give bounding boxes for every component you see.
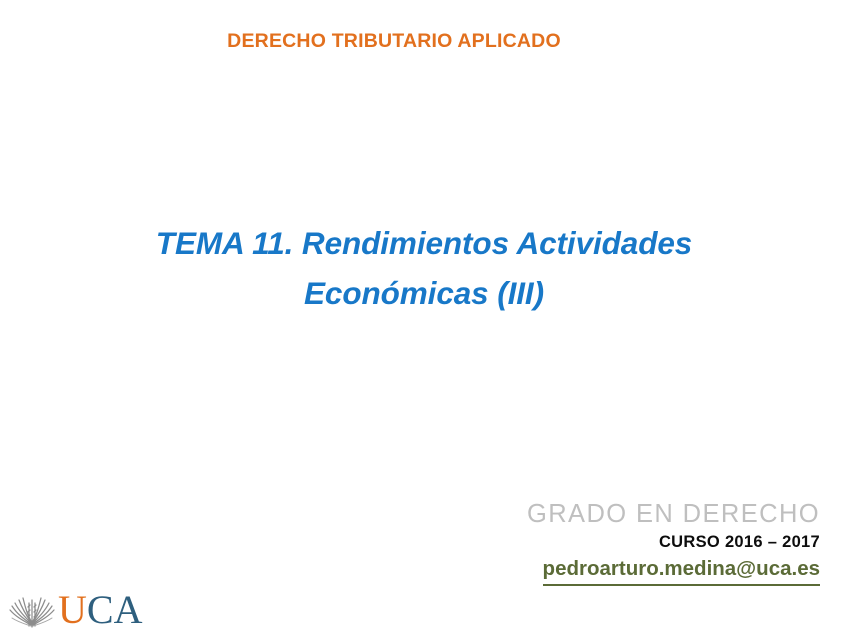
page-title-line-2: Económicas (III) xyxy=(60,268,788,318)
footer-info-block: GRADO EN DERECHO CURSO 2016 – 2017 pedro… xyxy=(527,499,820,586)
contact-email-row: pedroarturo.medina@uca.es xyxy=(527,555,820,586)
contact-email-link[interactable]: pedroarturo.medina@uca.es xyxy=(543,555,820,586)
degree-name: GRADO EN DERECHO xyxy=(527,499,820,530)
uca-wordmark: UCA xyxy=(58,590,142,630)
slide-canvas: DERECHO TRIBUTARIO APLICADO TEMA 11. Ren… xyxy=(0,0,848,636)
course-header: DERECHO TRIBUTARIO APLICADO xyxy=(0,30,788,53)
page-title: TEMA 11. Rendimientos Actividades Económ… xyxy=(60,218,788,318)
uca-wordmark-u: U xyxy=(58,587,87,632)
uca-wheat-emblem-icon xyxy=(8,591,56,629)
uca-wordmark-ca: CA xyxy=(87,587,143,632)
academic-year: CURSO 2016 – 2017 xyxy=(527,530,820,555)
uca-logo: UCA xyxy=(8,588,142,632)
page-title-line-1: TEMA 11. Rendimientos Actividades xyxy=(60,218,788,268)
